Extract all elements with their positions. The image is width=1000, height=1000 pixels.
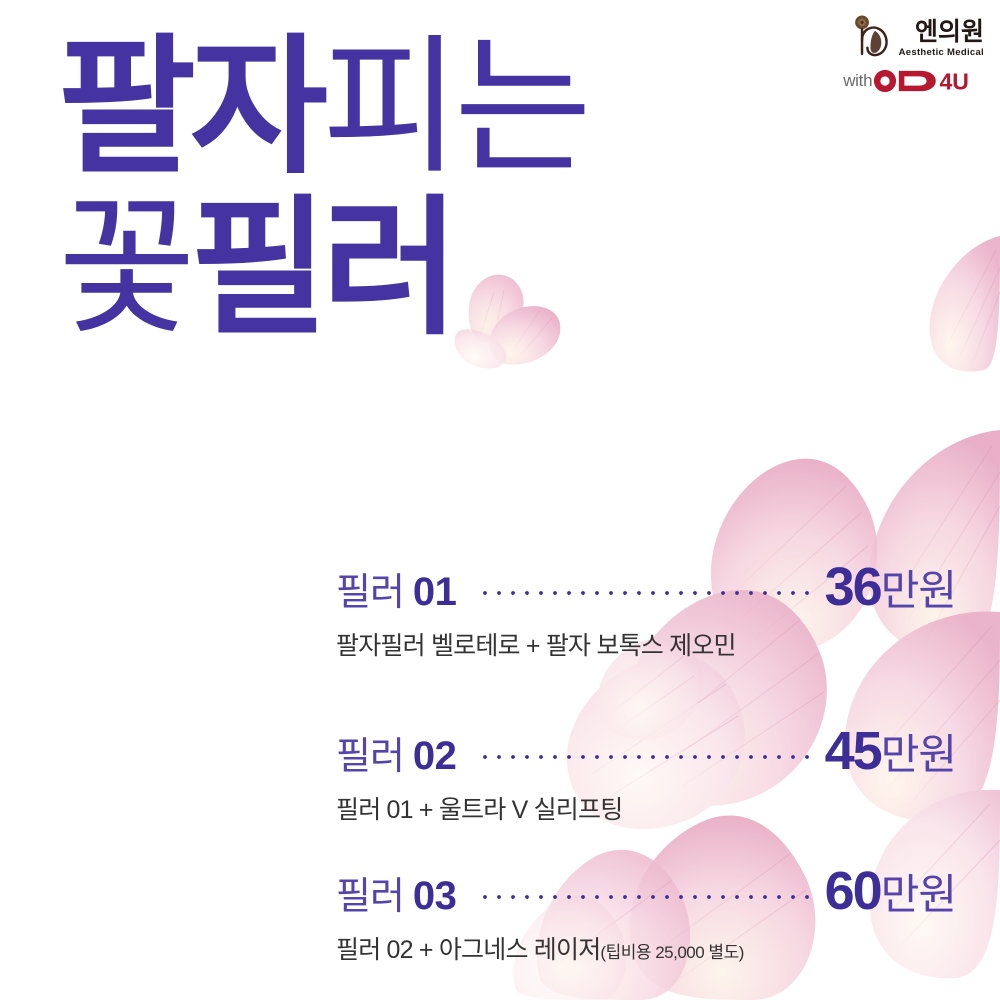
- price-list: 필러 01 36만원 팔자필러 벨로테로 + 팔자 보톡스 제오민 필러 02 …: [336, 556, 956, 966]
- price-description-text-03: 필러 02 + 아그네스 레이저: [336, 936, 600, 964]
- headline-line-2: 꽃필러: [58, 197, 586, 340]
- dotted-leader-02: [478, 731, 810, 769]
- tier-number-01: 01: [413, 570, 457, 615]
- tier-number-02: 02: [413, 734, 457, 779]
- tier-label-03: 필러: [336, 865, 404, 920]
- logo-english-tagline: Aesthetic Medical: [899, 47, 984, 58]
- price-unit-01: 만원: [881, 567, 956, 614]
- clinic-logo: 엔의원 Aesthetic Medical with 4U: [834, 14, 984, 110]
- price-amount-02: 45만원: [825, 720, 956, 782]
- logo-korean-name: 엔의원: [915, 20, 984, 45]
- price-number-02: 45: [825, 721, 881, 781]
- logo-primary-row: 엔의원 Aesthetic Medical: [834, 14, 984, 60]
- price-description-03: 필러 02 + 아그네스 레이저(팁비용 25,000 별도): [336, 930, 956, 966]
- svg-text:4U: 4U: [940, 69, 969, 93]
- price-amount-01: 36만원: [825, 556, 956, 618]
- price-item-02: 필러 02 45만원 필러 01 + 울트라 V 실리프팅: [336, 720, 956, 826]
- headline-line2-light: 꽃: [58, 184, 190, 352]
- price-item-03: 필러 03 60만원 필러 02 + 아그네스 레이저(팁비용 25,000 별…: [336, 860, 956, 966]
- price-row-01: 필러 01 36만원: [336, 556, 956, 618]
- headline-line1-bold: 팔자: [58, 23, 322, 191]
- price-row-03: 필러 03 60만원: [336, 860, 956, 922]
- headline-line1-light: 피는: [322, 23, 586, 191]
- poster-canvas: 엔의원 Aesthetic Medical with 4U 팔자피는 꽃필러: [0, 0, 1000, 1000]
- tier-label-02: 필러: [336, 725, 404, 780]
- logo-with-label: with: [843, 71, 872, 91]
- price-description-02: 필러 01 + 울트라 V 실리프팅: [336, 790, 956, 826]
- price-description-text-01: 팔자필러 벨로테로 + 팔자 보톡스 제오민: [336, 632, 736, 660]
- dotted-leader-03: [478, 871, 810, 909]
- petal-right-upper: [930, 236, 1000, 372]
- headline-line-1: 팔자피는: [58, 36, 586, 179]
- price-description-01: 팔자필러 벨로테로 + 팔자 보톡스 제오민: [336, 626, 956, 662]
- logo-partner-row: with 4U: [834, 69, 984, 93]
- en-clinic-flower-mark-icon: [849, 14, 895, 60]
- price-row-02: 필러 02 45만원: [336, 720, 956, 782]
- price-description-text-02: 필러 01 + 울트라 V 실리프팅: [336, 796, 622, 824]
- price-note-03: (팁비용 25,000 별도): [600, 943, 743, 962]
- price-item-01: 필러 01 36만원 팔자필러 벨로테로 + 팔자 보톡스 제오민: [336, 556, 956, 662]
- tier-number-03: 03: [413, 874, 457, 919]
- headline-line2-bold: 필러: [190, 184, 454, 352]
- price-number-01: 36: [825, 557, 881, 617]
- od4u-brand-icon: 4U: [873, 69, 984, 93]
- logo-wordmark: 엔의원 Aesthetic Medical: [899, 14, 984, 58]
- price-amount-03: 60만원: [825, 860, 956, 922]
- tier-label-01: 필러: [336, 561, 404, 616]
- price-unit-02: 만원: [881, 731, 956, 778]
- price-unit-03: 만원: [881, 871, 956, 918]
- dotted-leader-01: [478, 567, 810, 605]
- price-number-03: 60: [825, 861, 881, 921]
- page-title: 팔자피는 꽃필러: [58, 36, 586, 339]
